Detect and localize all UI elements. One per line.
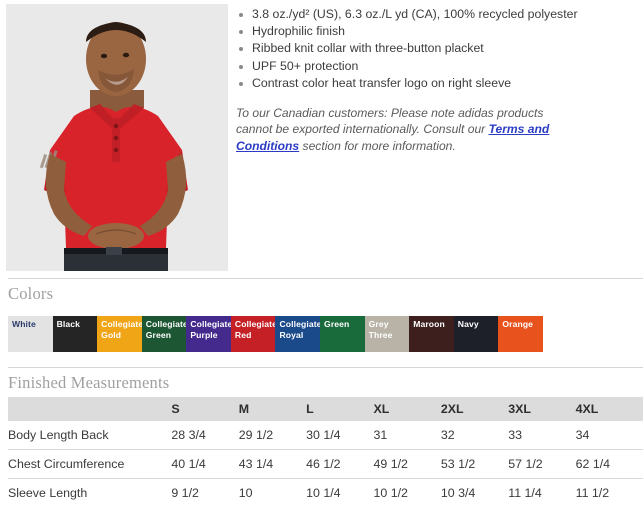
cell-value: 10 1/4 [306,479,373,507]
color-swatch-label: Collegiate Gold [101,319,141,340]
color-swatch-label: White [12,319,52,330]
table-row: Chest Circumference 40 1/4 43 1/4 46 1/2… [8,450,643,479]
cell-value: 31 [373,421,440,450]
list-item: Contrast color heat transfer logo on rig… [236,75,639,92]
column-header-s: S [171,397,238,421]
colors-section: Colors White Black Collegiate Gold Colle… [0,278,643,352]
row-label: Body Length Back [8,421,171,450]
color-swatch-collegiate-green[interactable]: Collegiate Green [142,316,187,352]
cell-value: 43 1/4 [239,450,306,479]
table-header-row: S M L XL 2XL 3XL 4XL [8,397,643,421]
cell-value: 62 1/4 [576,450,643,479]
product-image[interactable] [6,4,228,271]
column-header-measurement [8,397,171,421]
color-swatch-label: Collegiate Royal [279,319,319,340]
finished-measurements-table: S M L XL 2XL 3XL 4XL Body Length Back 28… [8,397,643,507]
cell-value: 10 [239,479,306,507]
color-swatch-label: Black [57,319,97,330]
product-overview: 3.8 oz./yd² (US), 6.3 oz./L yd (CA), 100… [0,0,643,272]
cell-value: 57 1/2 [508,450,575,479]
column-header-m: M [239,397,306,421]
color-swatch-label: Navy [458,319,498,330]
measurements-heading: Finished Measurements [0,368,643,397]
color-swatch-collegiate-gold[interactable]: Collegiate Gold [97,316,142,352]
cell-value: 34 [576,421,643,450]
color-swatch-row: White Black Collegiate Gold Collegiate G… [8,316,543,352]
cell-value: 10 3/4 [441,479,508,507]
table-row: Body Length Back 28 3/4 29 1/2 30 1/4 31… [8,421,643,450]
color-swatch-navy[interactable]: Navy [454,316,499,352]
cell-value: 33 [508,421,575,450]
row-label: Chest Circumference [8,450,171,479]
color-swatch-label: Collegiate Green [146,319,186,340]
list-item: Ribbed knit collar with three-button pla… [236,40,639,57]
color-swatch-label: Collegiate Red [235,319,275,340]
table-row: Sleeve Length 9 1/2 10 10 1/4 10 1/2 10 … [8,479,643,507]
column-header-xl: XL [373,397,440,421]
color-swatch-label: Green [324,319,364,330]
column-header-2xl: 2XL [441,397,508,421]
canadian-customers-note: To our Canadian customers: Please note a… [236,105,566,154]
list-item: UPF 50+ protection [236,58,639,75]
cell-value: 11 1/4 [508,479,575,507]
column-header-l: L [306,397,373,421]
measurements-section: Finished Measurements S M L XL 2XL 3XL 4… [0,367,643,507]
color-swatch-green[interactable]: Green [320,316,365,352]
cell-value: 40 1/4 [171,450,238,479]
color-swatch-black[interactable]: Black [53,316,98,352]
spec-column: 3.8 oz./yd² (US), 6.3 oz./L yd (CA), 100… [228,0,643,166]
cell-value: 28 3/4 [171,421,238,450]
cell-value: 10 1/2 [373,479,440,507]
row-label: Sleeve Length [8,479,171,507]
color-swatch-label: Maroon [413,319,453,330]
color-swatch-collegiate-red[interactable]: Collegiate Red [231,316,276,352]
cell-value: 46 1/2 [306,450,373,479]
cell-value: 30 1/4 [306,421,373,450]
product-photo-illustration [6,4,228,271]
color-swatch-orange[interactable]: Orange [498,316,543,352]
cell-value: 32 [441,421,508,450]
list-item: 3.8 oz./yd² (US), 6.3 oz./L yd (CA), 100… [236,6,639,23]
cell-value: 49 1/2 [373,450,440,479]
color-swatch-grey-three[interactable]: Grey Three [365,316,410,352]
color-swatch-maroon[interactable]: Maroon [409,316,454,352]
column-header-3xl: 3XL [508,397,575,421]
color-swatch-white[interactable]: White [8,316,53,352]
cell-value: 9 1/2 [171,479,238,507]
spec-bullet-list: 3.8 oz./yd² (US), 6.3 oz./L yd (CA), 100… [236,6,639,92]
color-swatch-collegiate-royal[interactable]: Collegiate Royal [275,316,320,352]
column-header-4xl: 4XL [576,397,643,421]
note-text-after: section for more information. [299,139,456,153]
color-swatch-label: Grey Three [369,319,409,340]
color-swatch-label: Collegiate Purple [190,319,230,340]
color-swatch-collegiate-purple[interactable]: Collegiate Purple [186,316,231,352]
cell-value: 53 1/2 [441,450,508,479]
list-item: Hydrophilic finish [236,23,639,40]
colors-heading: Colors [0,279,643,308]
color-swatch-label: Orange [502,319,542,330]
cell-value: 29 1/2 [239,421,306,450]
cell-value: 11 1/2 [576,479,643,507]
